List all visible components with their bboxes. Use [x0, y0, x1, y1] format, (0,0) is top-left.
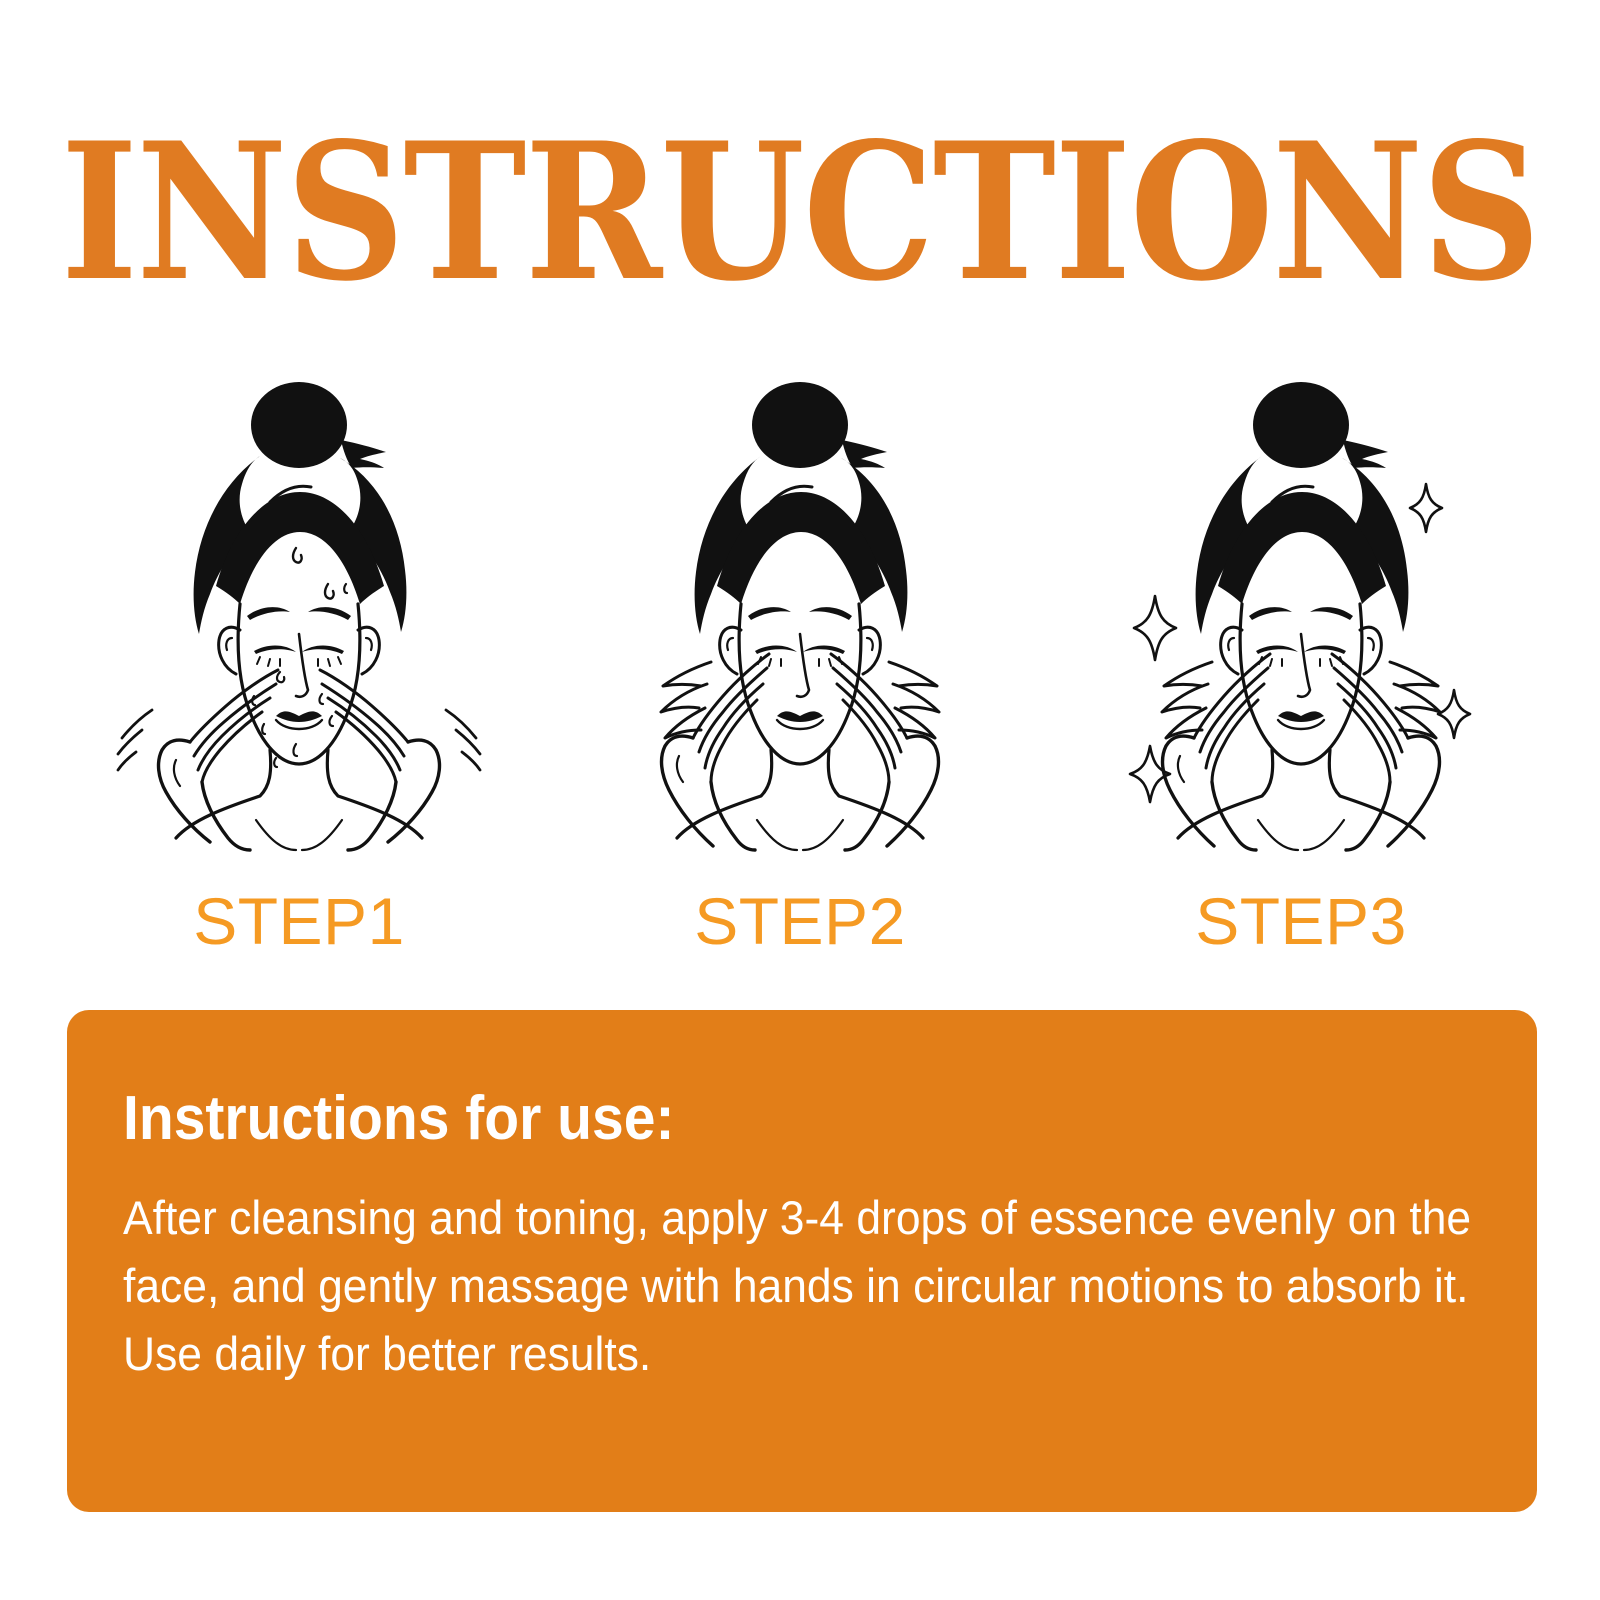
instructions-panel: Instructions for use: After cleansing an… [67, 1010, 1537, 1512]
eyebrows [1249, 607, 1353, 620]
water-droplets [252, 548, 347, 767]
hand-left-icon [159, 670, 278, 850]
hair-bun-icon [1253, 382, 1388, 468]
step-2-illustration [565, 372, 1035, 850]
face-outline [1240, 604, 1362, 764]
hand-right-icon [320, 670, 439, 850]
step-1-illustration [64, 372, 534, 850]
steps-row: STEP1 [64, 372, 1536, 954]
lips [276, 711, 322, 729]
hair-bun-icon [752, 382, 887, 468]
motion-lines [1162, 662, 1440, 738]
step-card-1: STEP1 [64, 372, 534, 954]
headband-icon [1218, 486, 1386, 604]
nose [1298, 634, 1310, 697]
step-card-3: STEP3 [1066, 372, 1536, 954]
step-2-label: STEP2 [694, 888, 906, 954]
page-title: INSTRUCTIONS [61, 118, 1540, 307]
lips [777, 711, 823, 729]
step-3-label: STEP3 [1195, 888, 1407, 954]
headband-icon [717, 486, 885, 604]
hair-bun-icon [251, 382, 386, 468]
eyes-closed [254, 645, 344, 666]
hair-outline [1196, 456, 1409, 634]
headband-icon [216, 486, 384, 604]
hair-outline [695, 456, 908, 634]
hair-outline [194, 456, 407, 634]
nose [296, 634, 308, 697]
step-card-2: STEP2 [565, 372, 1035, 954]
page-header: INSTRUCTIONS [0, 118, 1600, 296]
eyebrows [247, 607, 351, 620]
lips [1278, 711, 1324, 729]
nose [797, 634, 809, 697]
instructions-heading: Instructions for use: [123, 1088, 1372, 1150]
step-3-illustration [1066, 372, 1536, 850]
step-1-label: STEP1 [193, 888, 405, 954]
eyebrows [748, 607, 852, 620]
motion-lines [661, 662, 939, 738]
face-outline [739, 604, 861, 764]
instructions-body-text: After cleansing and toning, apply 3-4 dr… [123, 1184, 1484, 1388]
